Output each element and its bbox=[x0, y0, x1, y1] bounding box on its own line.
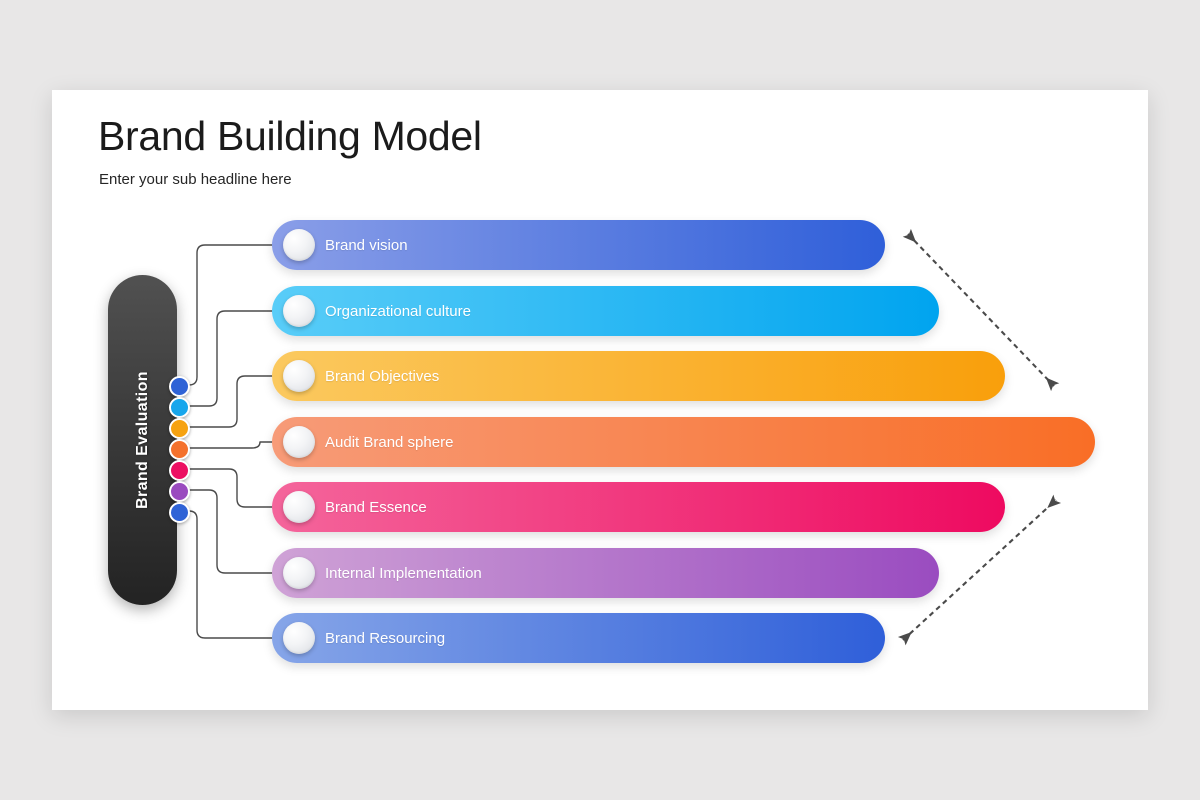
connector-dot-5[interactable] bbox=[169, 460, 190, 481]
stage-bullet-icon bbox=[283, 557, 315, 589]
stage-bullet-icon bbox=[283, 622, 315, 654]
connector-dot-4[interactable] bbox=[169, 439, 190, 460]
connector-dot-6[interactable] bbox=[169, 481, 190, 502]
stage-bullet-icon bbox=[283, 426, 315, 458]
stage-bar-6[interactable]: Internal Implementation bbox=[272, 548, 939, 598]
connector-dot-3[interactable] bbox=[169, 418, 190, 439]
stage-bar-3[interactable]: Brand Objectives bbox=[272, 351, 1005, 401]
stage-bar-label: Audit Brand sphere bbox=[325, 434, 453, 451]
connector-dot-2[interactable] bbox=[169, 397, 190, 418]
connector-dot-1[interactable] bbox=[169, 376, 190, 397]
stage-bar-label: Brand Resourcing bbox=[325, 630, 445, 647]
stage-bar-7[interactable]: Brand Resourcing bbox=[272, 613, 885, 663]
stage-bar-label: Brand Essence bbox=[325, 499, 427, 516]
stage-bar-2[interactable]: Organizational culture bbox=[272, 286, 939, 336]
brand-evaluation-label: Brand Evaluation bbox=[134, 371, 152, 509]
brand-evaluation-label-wrap: Brand Evaluation bbox=[108, 275, 177, 605]
stage-bullet-icon bbox=[283, 491, 315, 523]
stage-bar-label: Brand vision bbox=[325, 237, 408, 254]
stage-bullet-icon bbox=[283, 360, 315, 392]
stage-bullet-icon bbox=[283, 229, 315, 261]
slide-card: Brand Building Model Enter your sub head… bbox=[52, 90, 1148, 710]
page-title: Brand Building Model bbox=[98, 113, 482, 160]
stage-bar-label: Organizational culture bbox=[325, 303, 471, 320]
stage-bar-5[interactable]: Brand Essence bbox=[272, 482, 1005, 532]
brand-evaluation-pill[interactable]: Brand Evaluation bbox=[108, 275, 177, 605]
stage-bar-1[interactable]: Brand vision bbox=[272, 220, 885, 270]
connector-dot-7[interactable] bbox=[169, 502, 190, 523]
stage-bar-label: Brand Objectives bbox=[325, 368, 439, 385]
stage-bullet-icon bbox=[283, 295, 315, 327]
page-subtitle: Enter your sub headline here bbox=[99, 171, 292, 188]
stage-bar-label: Internal Implementation bbox=[325, 565, 482, 582]
stage-bar-4[interactable]: Audit Brand sphere bbox=[272, 417, 1095, 467]
